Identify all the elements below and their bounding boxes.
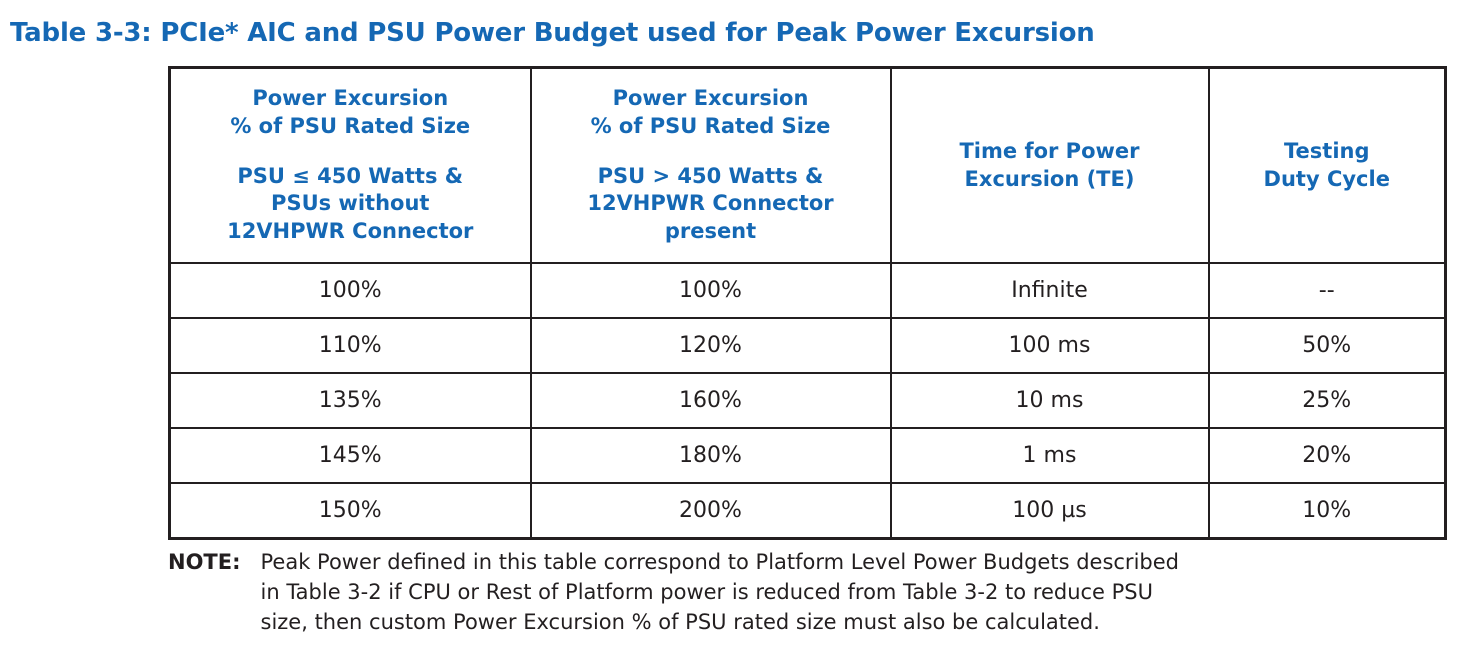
column-header-line: PSU > 450 Watts &	[532, 163, 890, 191]
table-row: 110% 120% 100 ms 50%	[170, 318, 1446, 373]
table-note: NOTE: Peak Power defined in this table c…	[168, 548, 1438, 637]
cell-power-excursion-gt-450: 100%	[531, 263, 891, 318]
note-line: in Table 3-2 if CPU or Rest of Platform …	[261, 578, 1439, 608]
column-header-line: Excursion (TE)	[892, 166, 1208, 194]
table-header: Power Excursion % of PSU Rated Size PSU …	[170, 68, 1446, 264]
power-budget-table-container: Power Excursion % of PSU Rated Size PSU …	[168, 66, 1444, 540]
table-header-row: Power Excursion % of PSU Rated Size PSU …	[170, 68, 1446, 264]
header-spacer	[532, 141, 890, 163]
note-line: size, then custom Power Excursion % of P…	[261, 608, 1439, 638]
cell-time-for-power-excursion: Infinite	[891, 263, 1209, 318]
cell-testing-duty-cycle: 50%	[1209, 318, 1446, 373]
cell-power-excursion-le-450: 150%	[170, 483, 531, 539]
table-row: 145% 180% 1 ms 20%	[170, 428, 1446, 483]
cell-testing-duty-cycle: 20%	[1209, 428, 1446, 483]
table-body: 100% 100% Infinite -- 110% 120% 100 ms 5…	[170, 263, 1446, 539]
column-header-line: Power Excursion	[532, 85, 890, 113]
cell-power-excursion-gt-450: 120%	[531, 318, 891, 373]
cell-power-excursion-le-450: 110%	[170, 318, 531, 373]
column-header-testing-duty-cycle: Testing Duty Cycle	[1209, 68, 1446, 264]
column-header-line: Power Excursion	[171, 85, 530, 113]
cell-power-excursion-le-450: 135%	[170, 373, 531, 428]
cell-testing-duty-cycle: --	[1209, 263, 1446, 318]
column-header-power-excursion-gt-450: Power Excursion % of PSU Rated Size PSU …	[531, 68, 891, 264]
column-header-power-excursion-le-450: Power Excursion % of PSU Rated Size PSU …	[170, 68, 531, 264]
cell-power-excursion-gt-450: 200%	[531, 483, 891, 539]
column-header-line: Testing	[1210, 138, 1445, 166]
column-header-line: 12VHPWR Connector	[171, 218, 530, 246]
power-budget-table: Power Excursion % of PSU Rated Size PSU …	[168, 66, 1447, 540]
column-header-time-for-power-excursion: Time for Power Excursion (TE)	[891, 68, 1209, 264]
note-label: NOTE:	[168, 548, 261, 578]
cell-power-excursion-le-450: 100%	[170, 263, 531, 318]
table-caption: Table 3-3: PCIe* AIC and PSU Power Budge…	[10, 18, 1095, 48]
cell-testing-duty-cycle: 10%	[1209, 483, 1446, 539]
cell-power-excursion-gt-450: 160%	[531, 373, 891, 428]
cell-time-for-power-excursion: 100 ms	[891, 318, 1209, 373]
cell-power-excursion-le-450: 145%	[170, 428, 531, 483]
column-header-line: Time for Power	[892, 138, 1208, 166]
column-header-line: present	[532, 218, 890, 246]
column-header-line: % of PSU Rated Size	[532, 113, 890, 141]
column-header-line: PSU ≤ 450 Watts &	[171, 163, 530, 191]
cell-time-for-power-excursion: 1 ms	[891, 428, 1209, 483]
column-header-line: PSUs without	[171, 190, 530, 218]
column-header-line: 12VHPWR Connector	[532, 190, 890, 218]
cell-time-for-power-excursion: 100 µs	[891, 483, 1209, 539]
cell-power-excursion-gt-450: 180%	[531, 428, 891, 483]
cell-testing-duty-cycle: 25%	[1209, 373, 1446, 428]
table-row: 135% 160% 10 ms 25%	[170, 373, 1446, 428]
table-row: 150% 200% 100 µs 10%	[170, 483, 1446, 539]
header-spacer	[171, 141, 530, 163]
cell-time-for-power-excursion: 10 ms	[891, 373, 1209, 428]
column-header-line: % of PSU Rated Size	[171, 113, 530, 141]
note-line: Peak Power defined in this table corresp…	[261, 548, 1439, 578]
note-body: Peak Power defined in this table corresp…	[261, 548, 1439, 637]
table-row: 100% 100% Infinite --	[170, 263, 1446, 318]
column-header-line: Duty Cycle	[1210, 166, 1445, 194]
